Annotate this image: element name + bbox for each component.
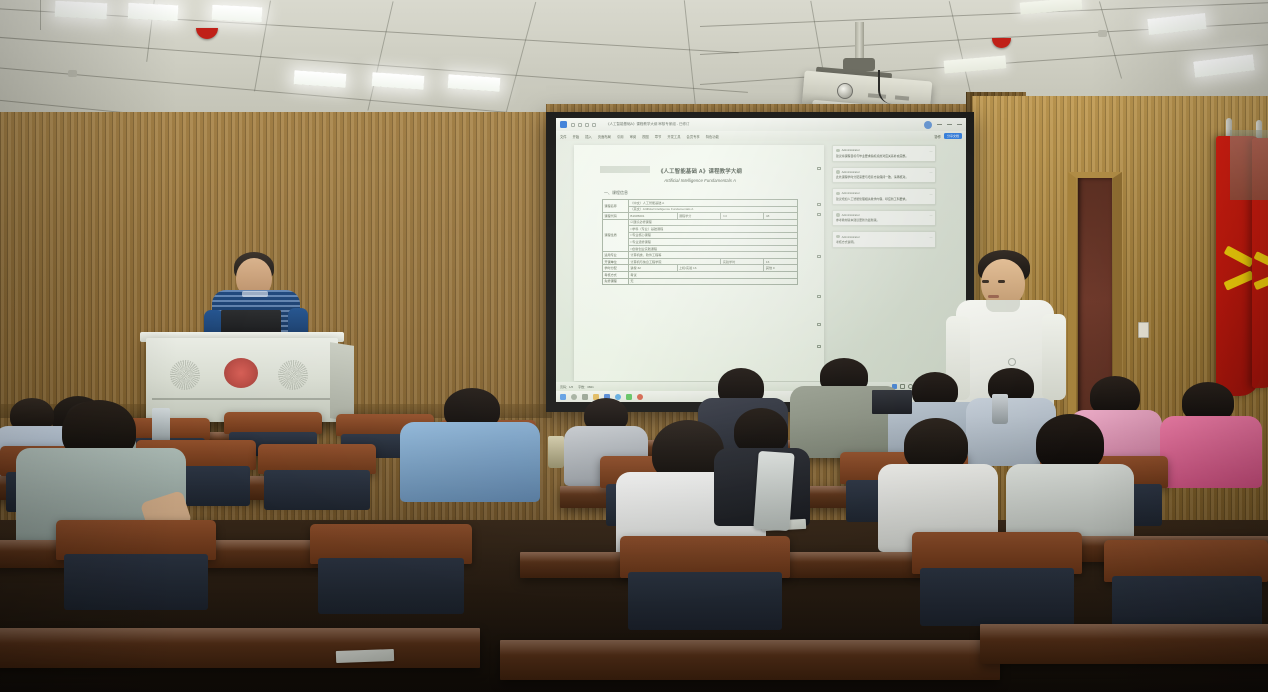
document-tab-label: 《人工智能基础A》课程教学大纲 审核专家组 - 已修订 — [606, 122, 689, 127]
papers-on-desk — [336, 649, 394, 663]
projection-screen: 《人工智能基础A》课程教学大纲 审核专家组 - 已修订 文件 开始 插入 页面布… — [556, 118, 966, 402]
more-icon[interactable]: ⋯ — [930, 170, 933, 174]
operator-collar — [242, 291, 268, 297]
ceiling-light-panel — [128, 3, 179, 22]
tab-yinyong[interactable]: 引用 — [617, 134, 624, 139]
light-switch[interactable] — [1138, 322, 1149, 338]
chevron-down-icon — [592, 123, 596, 127]
row-value: 无 — [629, 278, 798, 285]
tab-kaishi[interactable]: 开始 — [573, 134, 580, 139]
tab-wenjian[interactable]: 文件 — [560, 134, 567, 139]
tab-yemianbuju[interactable]: 页面布局 — [598, 134, 611, 139]
sprinkler-icon — [68, 70, 77, 77]
presenter-eye — [982, 280, 989, 283]
comment-card[interactable]: ⋯ Administrator 建议增加人工智能伦理相关教学内容，呼应新工科要求… — [832, 188, 936, 205]
comment-author-label: Administrator — [842, 191, 860, 195]
document-title: 《人工智能基础 A》课程教学大纲 — [600, 167, 800, 175]
tab-tesegongneng[interactable]: 特色功能 — [706, 134, 719, 139]
comment-anchor-icon[interactable] — [817, 255, 821, 258]
comment-text: 建议将课程目标与毕业要求指标点的对应关系补充完整。 — [836, 154, 932, 158]
audience-member — [1006, 414, 1134, 550]
lecture-hall-photo: 《人工智能基础A》课程教学大纲 审核专家组 - 已修订 文件 开始 插入 页面布… — [0, 0, 1268, 692]
window-blind — [1230, 130, 1268, 200]
maximize-icon — [947, 124, 952, 125]
tab-zhangjie[interactable]: 章节 — [655, 134, 662, 139]
comment-author: Administrator — [836, 191, 932, 195]
comment-author-label: Administrator — [842, 170, 860, 174]
audience-member — [1160, 382, 1260, 478]
tab-shitu[interactable]: 视图 — [642, 134, 649, 139]
comment-anchor-icon[interactable] — [817, 213, 821, 216]
redo-icon — [585, 123, 589, 127]
comment-avatar-icon — [836, 149, 840, 153]
tab-huiyuan[interactable]: 会员专享 — [687, 134, 700, 139]
thermos-bottle — [548, 436, 564, 468]
word-count: 字数：3821 — [578, 385, 594, 389]
comment-author: Administrator — [836, 148, 932, 152]
comment-card[interactable]: ⋯ Administrator 考核方式说明。 — [832, 231, 936, 248]
row-label: 课程名称 — [603, 200, 629, 213]
ceiling-light-panel — [55, 1, 108, 20]
chair[interactable] — [258, 444, 376, 530]
lectern-rosette-right — [278, 360, 308, 390]
flag-emblem — [1253, 274, 1268, 290]
projector-lens-icon — [837, 83, 853, 99]
comment-anchor-icon[interactable] — [817, 323, 821, 326]
desk-front — [500, 640, 1000, 680]
window-controls[interactable] — [924, 121, 962, 129]
desk-front — [980, 624, 1268, 664]
desk-front — [0, 628, 480, 668]
comment-author-label: Administrator — [842, 235, 860, 239]
presenter-eye — [998, 280, 1005, 283]
comment-avatar-icon — [836, 235, 840, 239]
audience-member — [878, 418, 998, 546]
undo-icon — [578, 123, 582, 127]
flag-emblem — [1223, 270, 1254, 290]
document-section-heading: 一、课程信息 — [604, 190, 628, 196]
comment-text: 参考教材版本建议更新为最新版。 — [836, 218, 932, 222]
audience-member — [16, 400, 186, 540]
chair[interactable] — [310, 524, 472, 644]
comment-anchor-icon[interactable] — [817, 295, 821, 298]
table-row: 先修课程 无 — [603, 278, 798, 285]
comment-avatar-icon — [836, 192, 840, 196]
quick-access-toolbar[interactable] — [571, 123, 596, 127]
comment-avatar-icon — [836, 213, 840, 217]
ribbon-tabs[interactable]: 文件 开始 插入 页面布局 引用 审阅 视图 章节 开发工具 会员专享 特色功能… — [556, 131, 966, 141]
shirt-logo — [1008, 358, 1016, 366]
tab-charu[interactable]: 插入 — [585, 134, 592, 139]
ribbon-right-actions[interactable]: 协作 分享文档 — [934, 133, 962, 139]
document-page: 《人工智能基础 A》课程教学大纲 Artificial Intelligence… — [574, 145, 824, 381]
comment-card[interactable]: ⋯ Administrator 此处课程学时分配需要与培养方案保持一致，请再核对… — [832, 167, 936, 184]
comment-author-label: Administrator — [842, 213, 860, 217]
page-info: 页码：1/6 — [560, 385, 573, 389]
comment-anchor-icon[interactable] — [817, 345, 821, 348]
comment-author: Administrator — [836, 170, 932, 174]
course-info-table: 课程名称 （中文）人工智能基础 A （英文）Artificial Intelli… — [602, 199, 798, 285]
presenter-collar — [986, 300, 1020, 312]
ceiling-light-panel — [212, 5, 263, 23]
close-icon — [957, 124, 962, 125]
more-icon[interactable]: ⋯ — [930, 213, 933, 217]
comment-card[interactable]: ⋯ Administrator 参考教材版本建议更新为最新版。 — [832, 210, 936, 227]
wps-office-window: 《人工智能基础A》课程教学大纲 审核专家组 - 已修订 文件 开始 插入 页面布… — [556, 118, 966, 402]
presenter-mouth — [988, 295, 999, 298]
save-icon — [571, 123, 575, 127]
document-canvas: 《人工智能基础 A》课程教学大纲 Artificial Intelligence… — [556, 141, 966, 391]
comments-pane: ⋯ Administrator 建议将课程目标与毕业要求指标点的对应关系补充完整… — [832, 145, 936, 381]
comment-author: Administrator — [836, 213, 932, 217]
projector-mount-pole — [855, 22, 864, 62]
comment-text: 建议增加人工智能伦理相关教学内容，呼应新工科要求。 — [836, 197, 932, 201]
lectern-emblem — [224, 358, 258, 388]
flag-emblem — [1224, 245, 1255, 267]
minimize-icon — [937, 124, 942, 125]
row-label: 课程性质 — [603, 219, 629, 252]
lectern-rosette-left — [170, 360, 200, 390]
document-subtitle: Artificial Intelligence Fundamentals A — [600, 178, 800, 183]
draped-jacket — [753, 451, 794, 531]
document-tab[interactable]: 《人工智能基础A》课程教学大纲 审核专家组 - 已修订 — [606, 122, 689, 127]
comment-card[interactable]: ⋯ Administrator 建议将课程目标与毕业要求指标点的对应关系补充完整… — [832, 145, 936, 162]
projector-cable — [878, 70, 900, 104]
share-button[interactable]: 分享文档 — [944, 133, 962, 139]
wps-logo-icon — [560, 121, 567, 128]
tab-kaifagongju[interactable]: 开发工具 — [667, 134, 680, 139]
sprinkler-icon — [1098, 30, 1107, 37]
window-title-bar: 《人工智能基础A》课程教学大纲 审核专家组 - 已修订 — [556, 118, 966, 131]
more-icon[interactable]: ⋯ — [930, 192, 933, 196]
user-avatar-icon[interactable] — [924, 121, 932, 129]
flag-emblem — [1253, 251, 1268, 269]
audience-member — [400, 388, 540, 498]
comment-text: 考核方式说明。 — [836, 240, 932, 244]
lectern-side-panel — [330, 342, 354, 422]
comment-text: 此处课程学时分配需要与培养方案保持一致，请再核对。 — [836, 175, 932, 179]
comment-author: Administrator — [836, 235, 932, 239]
comment-anchor-icon[interactable] — [817, 203, 821, 206]
comment-avatar-icon — [836, 170, 840, 174]
comment-author-label: Administrator — [842, 148, 860, 152]
row-label: 先修课程 — [603, 278, 629, 285]
comment-anchor-icon[interactable] — [817, 167, 821, 170]
more-icon[interactable]: ⋯ — [930, 235, 933, 239]
audience-laptop — [872, 390, 912, 414]
more-icon[interactable]: ⋯ — [930, 149, 933, 153]
chair[interactable] — [56, 520, 216, 640]
tab-shenyue[interactable]: 审阅 — [630, 134, 637, 139]
collaborate-label[interactable]: 协作 — [934, 134, 941, 139]
audience-torso — [400, 422, 540, 502]
audience-torso — [1160, 416, 1262, 488]
